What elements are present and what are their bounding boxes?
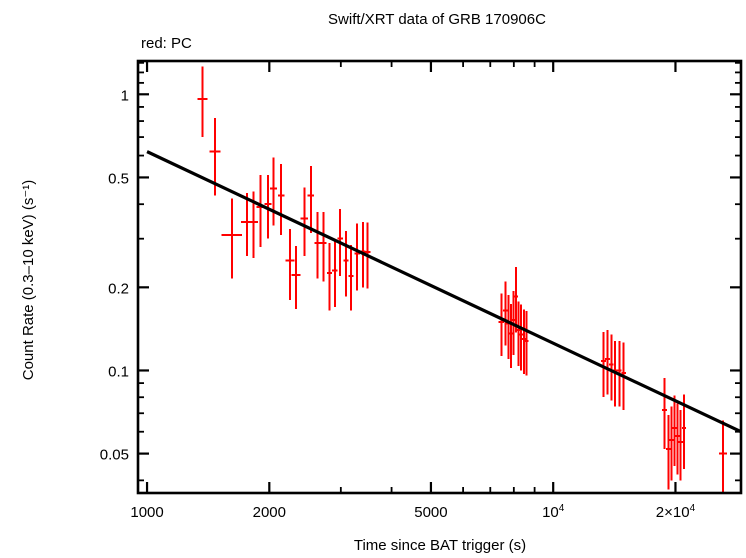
data-point-errorbar: [503, 281, 508, 345]
axis-tick-labels: 1000200050001042×10410.50.20.10.05: [100, 87, 696, 521]
data-point-errorbar: [498, 293, 504, 355]
data-point-errorbar: [241, 193, 252, 256]
data-point-errorbar: [669, 407, 673, 481]
data-point-errorbar: [514, 267, 517, 333]
data-point-errorbar: [525, 311, 528, 375]
data-point-errorbar: [257, 175, 264, 247]
data-point-errorbar: [343, 231, 348, 297]
data-point-errorbar: [666, 415, 670, 490]
data-point-errorbar: [354, 224, 359, 291]
data-point-errorbar: [321, 212, 327, 282]
axis-ticks: [138, 61, 741, 493]
data-points-layer: [197, 67, 727, 493]
y-tick-label: 0.5: [108, 170, 129, 187]
x-tick-label: 2×104: [656, 503, 696, 521]
x-tick-label: 1000: [130, 504, 163, 521]
data-point-errorbar: [519, 305, 522, 371]
legend-label-pc: red: PC: [141, 35, 192, 52]
y-tick-label: 0.05: [100, 447, 129, 464]
data-point-errorbar: [327, 243, 332, 311]
x-tick-label: 2000: [253, 504, 286, 521]
y-tick-label: 1: [121, 87, 129, 104]
data-point-errorbar: [270, 158, 277, 226]
y-tick-label: 0.1: [108, 363, 129, 380]
data-point-errorbar: [308, 166, 314, 233]
data-point-errorbar: [509, 304, 513, 368]
data-point-errorbar: [506, 295, 510, 359]
figure-container: Swift/XRT data of GRB 170906C red: PC Ti…: [0, 0, 746, 558]
data-point-errorbar: [221, 198, 242, 278]
x-axis-title: Time since BAT trigger (s): [354, 537, 526, 554]
data-point-errorbar: [286, 229, 295, 300]
x-tick-label: 104: [542, 503, 565, 521]
power-law-fit-line: [147, 152, 741, 432]
data-point-errorbar: [672, 396, 676, 466]
data-point-errorbar: [301, 187, 308, 255]
data-point-errorbar: [292, 246, 301, 309]
data-point-errorbar: [349, 245, 354, 311]
data-point-errorbar: [662, 378, 667, 449]
light-curve-plot: Swift/XRT data of GRB 170906C red: PC Ti…: [0, 0, 746, 558]
data-point-errorbar: [522, 310, 525, 374]
data-point-errorbar: [197, 67, 207, 137]
data-point-errorbar: [719, 420, 727, 493]
data-point-errorbar: [278, 164, 285, 235]
data-point-errorbar: [609, 334, 614, 400]
y-axis-title: Count Rate (0.3–10 keV) (s⁻¹): [20, 180, 37, 381]
plot-frame: [138, 61, 741, 493]
data-point-errorbar: [676, 403, 680, 474]
fit-line-layer: [147, 152, 741, 432]
x-tick-label: 5000: [414, 504, 447, 521]
data-point-errorbar: [315, 212, 321, 279]
y-tick-label: 0.2: [108, 280, 129, 297]
data-point-errorbar: [332, 241, 337, 307]
data-point-errorbar: [679, 410, 683, 480]
plot-title: Swift/XRT data of GRB 170906C: [328, 11, 546, 28]
